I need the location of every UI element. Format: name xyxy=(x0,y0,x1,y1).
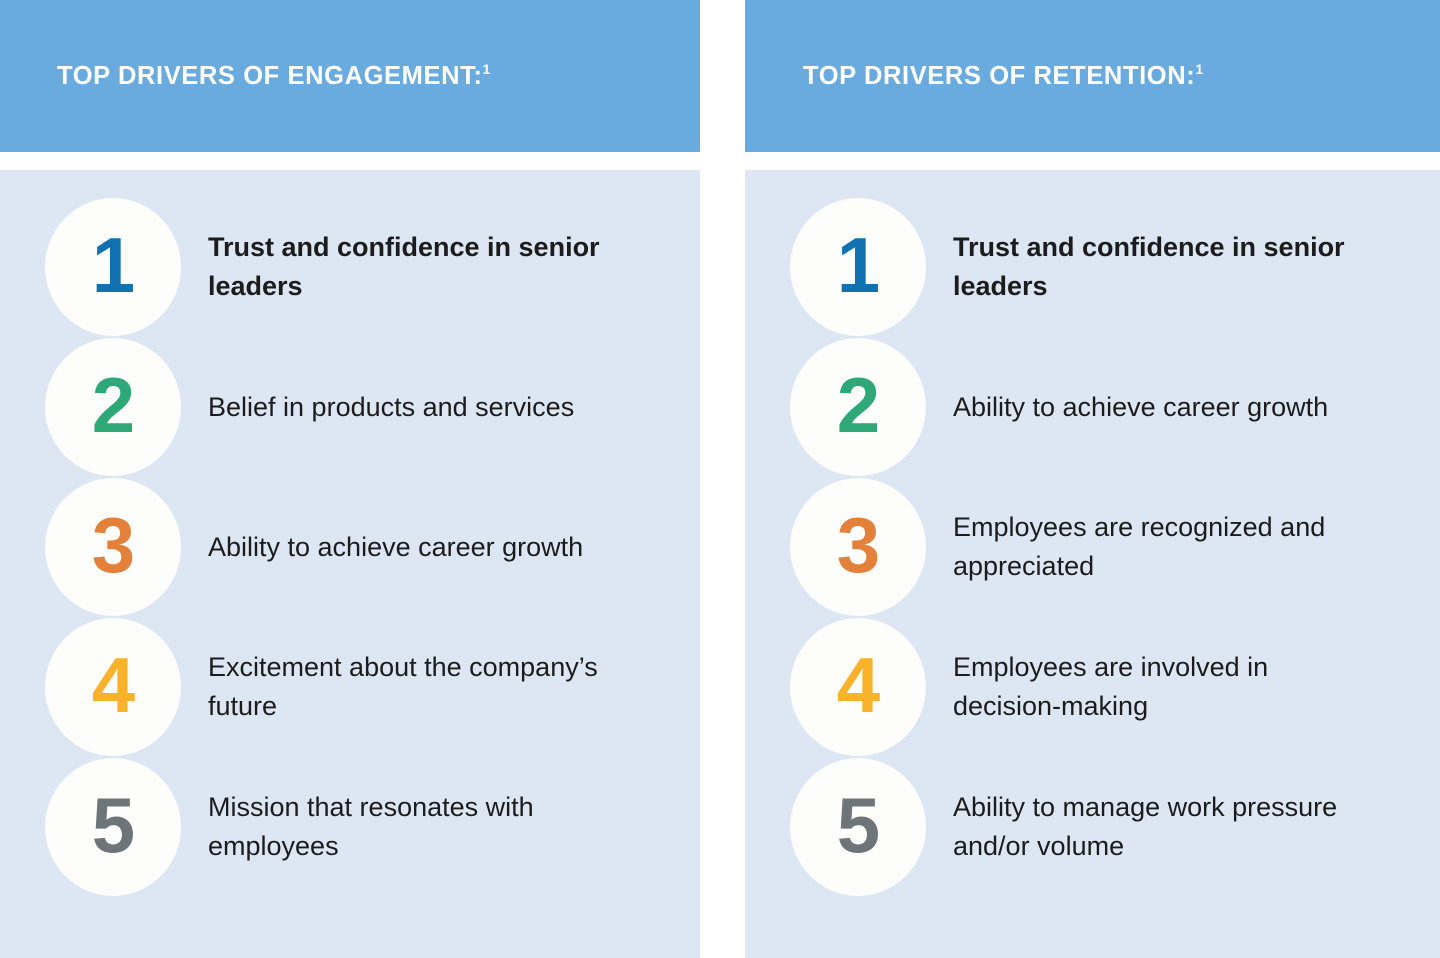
engagement-header-divider xyxy=(0,152,700,170)
rank-badge: 5 xyxy=(790,758,926,896)
list-item: 3 Employees are recognized and appreciat… xyxy=(790,477,1420,617)
rank-number: 2 xyxy=(837,366,879,444)
driver-label: Employees are involved in decision-makin… xyxy=(953,648,1373,726)
infographic-board: TOP DRIVERS OF ENGAGEMENT:1 1 Trust and … xyxy=(0,0,1440,958)
list-item: 1 Trust and confidence in senior leaders xyxy=(45,197,680,337)
driver-label: Employees are recognized and appreciated xyxy=(953,508,1373,586)
list-item: 3 Ability to achieve career growth xyxy=(45,477,680,617)
driver-label: Ability to achieve career growth xyxy=(208,528,583,567)
driver-label: Ability to manage work pressure and/or v… xyxy=(953,788,1373,866)
driver-label: Mission that resonates with employees xyxy=(208,788,628,866)
engagement-list: 1 Trust and confidence in senior leaders… xyxy=(0,170,700,958)
retention-header: TOP DRIVERS OF RETENTION:1 xyxy=(745,0,1440,152)
rank-badge: 2 xyxy=(790,338,926,476)
engagement-title: TOP DRIVERS OF ENGAGEMENT:1 xyxy=(57,62,490,90)
rank-badge: 3 xyxy=(45,478,181,616)
list-item: 5 Ability to manage work pressure and/or… xyxy=(790,757,1420,897)
list-item: 2 Belief in products and services xyxy=(45,337,680,477)
list-item: 1 Trust and confidence in senior leaders xyxy=(790,197,1420,337)
rank-number: 1 xyxy=(837,226,879,304)
retention-column: TOP DRIVERS OF RETENTION:1 1 Trust and c… xyxy=(745,0,1440,958)
rank-number: 4 xyxy=(92,646,134,724)
rank-number: 3 xyxy=(92,506,134,584)
driver-label: Ability to achieve career growth xyxy=(953,388,1328,427)
retention-list: 1 Trust and confidence in senior leaders… xyxy=(745,170,1440,958)
rank-number: 5 xyxy=(92,786,134,864)
rank-number: 3 xyxy=(837,506,879,584)
rank-badge: 2 xyxy=(45,338,181,476)
engagement-title-text: TOP DRIVERS OF ENGAGEMENT: xyxy=(57,62,483,90)
rank-number: 4 xyxy=(837,646,879,724)
rank-badge: 3 xyxy=(790,478,926,616)
list-item: 2 Ability to achieve career growth xyxy=(790,337,1420,477)
list-item: 4 Employees are involved in decision-mak… xyxy=(790,617,1420,757)
retention-title-footnote-marker: 1 xyxy=(1195,61,1203,77)
engagement-column: TOP DRIVERS OF ENGAGEMENT:1 1 Trust and … xyxy=(0,0,700,958)
retention-title-text: TOP DRIVERS OF RETENTION: xyxy=(803,62,1195,90)
engagement-title-footnote-marker: 1 xyxy=(483,61,491,77)
driver-label: Belief in products and services xyxy=(208,388,574,427)
rank-number: 2 xyxy=(92,366,134,444)
rank-badge: 4 xyxy=(45,618,181,756)
engagement-header: TOP DRIVERS OF ENGAGEMENT:1 xyxy=(0,0,700,152)
list-item: 5 Mission that resonates with employees xyxy=(45,757,680,897)
driver-label: Excitement about the company’s future xyxy=(208,648,628,726)
rank-number: 1 xyxy=(92,226,134,304)
retention-header-divider xyxy=(745,152,1440,170)
rank-badge: 4 xyxy=(790,618,926,756)
rank-badge: 5 xyxy=(45,758,181,896)
retention-title: TOP DRIVERS OF RETENTION:1 xyxy=(803,62,1203,90)
driver-label: Trust and confidence in senior leaders xyxy=(953,228,1373,306)
rank-badge: 1 xyxy=(45,198,181,336)
rank-number: 5 xyxy=(837,786,879,864)
driver-label: Trust and confidence in senior leaders xyxy=(208,228,628,306)
list-item: 4 Excitement about the company’s future xyxy=(45,617,680,757)
rank-badge: 1 xyxy=(790,198,926,336)
